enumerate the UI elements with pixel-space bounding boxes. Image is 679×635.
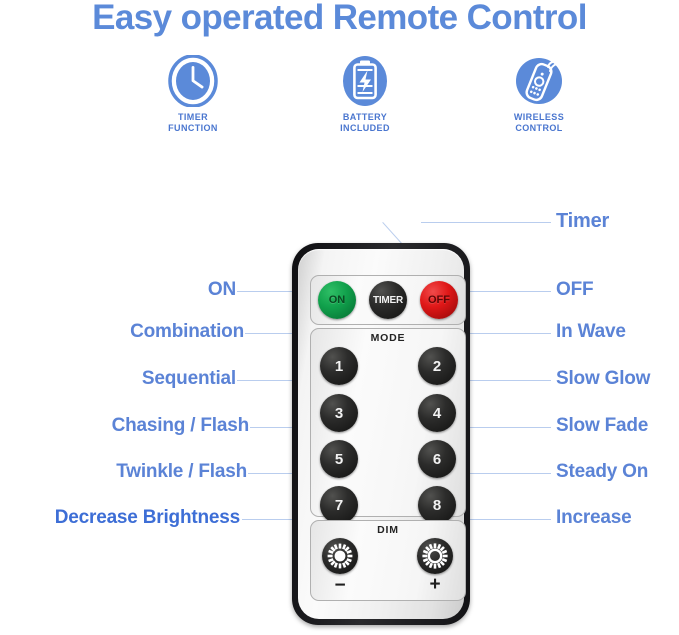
leader-line-timer [421, 222, 551, 223]
power-panel: ON TIMER OFF [310, 275, 466, 325]
callout-increase: Increase [556, 507, 632, 529]
timer-button[interactable]: TIMER [369, 281, 407, 319]
feature-caption-line1: TIMER [118, 112, 268, 123]
mode-caption: MODE [311, 332, 465, 344]
on-button[interactable]: ON [318, 281, 356, 319]
feature-wireless-control: WIRELESS CONTROL [464, 55, 614, 134]
feature-caption: BATTERY INCLUDED [290, 112, 440, 134]
callout-in-wave: In Wave [556, 321, 626, 343]
callout-sequential: Sequential [142, 368, 236, 390]
dim-increase-button[interactable] [417, 538, 453, 574]
dim-plus-label: + [415, 575, 455, 594]
remote-control: ON TIMER OFF MODE 1 2 3 4 5 6 7 8 DIM [292, 243, 470, 625]
feature-caption-line2: FUNCTION [118, 123, 268, 134]
remote-signal-icon [464, 55, 614, 107]
mode-panel: MODE 1 2 3 4 5 6 7 8 [310, 328, 466, 517]
battery-icon [290, 55, 440, 107]
mode-button-1[interactable]: 1 [320, 347, 358, 385]
sun-filled-icon [325, 541, 355, 571]
dim-panel: DIM [310, 520, 466, 601]
feature-caption: TIMER FUNCTION [118, 112, 268, 134]
sun-outline-icon [420, 541, 450, 571]
callout-combination: Combination [130, 321, 244, 343]
callout-chasing-flash: Chasing / Flash [112, 415, 249, 437]
mode-button-2[interactable]: 2 [418, 347, 456, 385]
callout-slow-glow: Slow Glow [556, 368, 650, 390]
off-button[interactable]: OFF [420, 281, 458, 319]
callout-timer: Timer [556, 210, 609, 233]
callout-decrease-brightness: Decrease Brightness [55, 507, 240, 529]
feature-caption-line1: BATTERY [290, 112, 440, 123]
poster-canvas: Easy operated Remote Control TIMER FUNCT… [0, 0, 679, 635]
mode-button-7[interactable]: 7 [320, 486, 358, 524]
callout-on: ON [208, 279, 236, 301]
page-title: Easy operated Remote Control [0, 0, 679, 38]
feature-caption-line1: WIRELESS [464, 112, 614, 123]
mode-button-4[interactable]: 4 [418, 394, 456, 432]
feature-caption: WIRELESS CONTROL [464, 112, 614, 134]
callout-slow-fade: Slow Fade [556, 415, 648, 437]
feature-badges: TIMER FUNCTION BATTERY INCLUDED [0, 55, 679, 155]
mode-button-6[interactable]: 6 [418, 440, 456, 478]
callout-off: OFF [556, 279, 593, 301]
clock-icon [118, 55, 268, 107]
remote-faceplate: ON TIMER OFF MODE 1 2 3 4 5 6 7 8 DIM [298, 249, 464, 619]
mode-button-3[interactable]: 3 [320, 394, 358, 432]
callout-steady-on: Steady On [556, 461, 648, 483]
feature-timer-function: TIMER FUNCTION [118, 55, 268, 134]
mode-button-5[interactable]: 5 [320, 440, 358, 478]
dim-decrease-button[interactable] [322, 538, 358, 574]
callout-twinkle-flash: Twinkle / Flash [116, 461, 247, 483]
dim-minus-label: − [320, 576, 360, 595]
feature-caption-line2: CONTROL [464, 123, 614, 134]
dim-caption: DIM [311, 524, 465, 536]
feature-battery-included: BATTERY INCLUDED [290, 55, 440, 134]
feature-caption-line2: INCLUDED [290, 123, 440, 134]
mode-button-8[interactable]: 8 [418, 486, 456, 524]
